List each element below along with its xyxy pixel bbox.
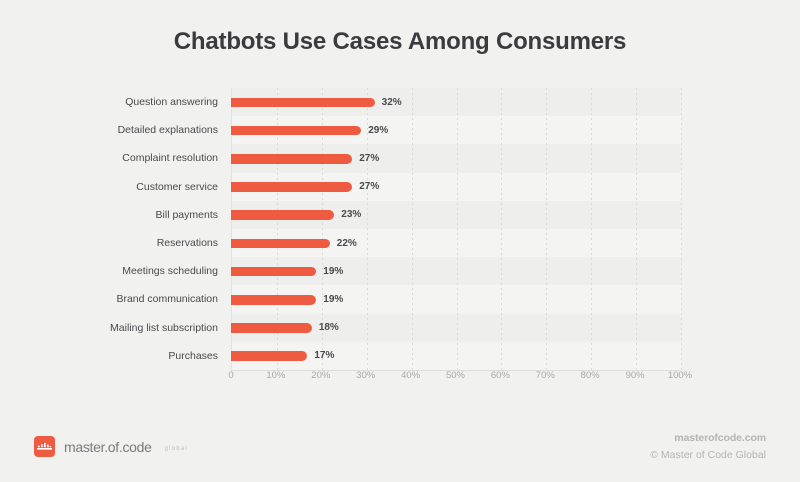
category-label: Mailing list subscription xyxy=(20,314,218,342)
x-tick-label: 50% xyxy=(446,370,465,381)
category-label: Meetings scheduling xyxy=(20,257,218,285)
bar-value-label: 27% xyxy=(359,173,379,201)
x-tick-label: 30% xyxy=(356,370,375,381)
bar-row: Detailed explanations29% xyxy=(0,116,800,144)
bar xyxy=(231,323,312,333)
category-label: Detailed explanations xyxy=(20,116,218,144)
bar-row: Bill payments23% xyxy=(0,201,800,229)
bar xyxy=(231,210,334,220)
logo-subtext: global xyxy=(165,446,188,452)
footer: master.of.code global masterofcode.com ©… xyxy=(0,414,800,482)
category-label: Reservations xyxy=(20,229,218,257)
bar xyxy=(231,126,361,136)
site-url[interactable]: masterofcode.com xyxy=(650,432,766,444)
bar-row: Meetings scheduling19% xyxy=(0,257,800,285)
category-label: Customer service xyxy=(20,173,218,201)
logo-glyph-icon xyxy=(37,442,52,452)
footer-credits: masterofcode.com © Master of Code Global xyxy=(650,432,766,461)
bar-value-label: 19% xyxy=(323,257,343,285)
x-axis: 010%20%30%40%50%60%70%80%90%100% xyxy=(0,370,800,390)
brand-logo[interactable]: master.of.code global xyxy=(34,436,188,457)
logo-text: master.of.code xyxy=(64,439,152,455)
category-label: Brand communication xyxy=(20,285,218,313)
category-label: Purchases xyxy=(20,342,218,370)
bar-value-label: 23% xyxy=(341,201,361,229)
category-label: Complaint resolution xyxy=(20,144,218,172)
bar xyxy=(231,239,330,249)
bar-value-label: 29% xyxy=(368,116,388,144)
bar-value-label: 32% xyxy=(382,88,402,116)
bar xyxy=(231,154,352,164)
bar-row: Purchases17% xyxy=(0,342,800,370)
x-tick-label: 60% xyxy=(491,370,510,381)
category-label: Bill payments xyxy=(20,201,218,229)
bar-value-label: 19% xyxy=(323,285,343,313)
x-tick-label: 20% xyxy=(311,370,330,381)
bar-chart: Question answering32%Detailed explanatio… xyxy=(0,88,800,388)
footer-divider xyxy=(0,414,800,415)
bar xyxy=(231,351,307,361)
bar-value-label: 18% xyxy=(319,314,339,342)
bar-row: Brand communication19% xyxy=(0,285,800,313)
x-tick-label: 70% xyxy=(536,370,555,381)
bar-row: Question answering32% xyxy=(0,88,800,116)
bar-value-label: 22% xyxy=(337,229,357,257)
x-tick-label: 90% xyxy=(626,370,645,381)
bar xyxy=(231,295,316,305)
x-tick-label: 10% xyxy=(266,370,285,381)
bar-row: Complaint resolution27% xyxy=(0,144,800,172)
bar-value-label: 17% xyxy=(314,342,334,370)
category-label: Question answering xyxy=(20,88,218,116)
chart-page: Chatbots Use Cases Among Consumers Quest… xyxy=(0,0,800,482)
x-tick-label: 100% xyxy=(668,370,692,381)
bar-row: Reservations22% xyxy=(0,229,800,257)
x-tick-label: 80% xyxy=(581,370,600,381)
bar-row: Mailing list subscription18% xyxy=(0,314,800,342)
bar xyxy=(231,182,352,192)
copyright-text: © Master of Code Global xyxy=(650,449,766,461)
x-tick-label: 0 xyxy=(228,370,233,381)
bar-row: Customer service27% xyxy=(0,173,800,201)
bar xyxy=(231,267,316,277)
bar xyxy=(231,98,375,108)
x-tick-label: 40% xyxy=(401,370,420,381)
logo-mark-icon xyxy=(34,436,55,457)
bar-value-label: 27% xyxy=(359,144,379,172)
page-title: Chatbots Use Cases Among Consumers xyxy=(0,28,800,56)
